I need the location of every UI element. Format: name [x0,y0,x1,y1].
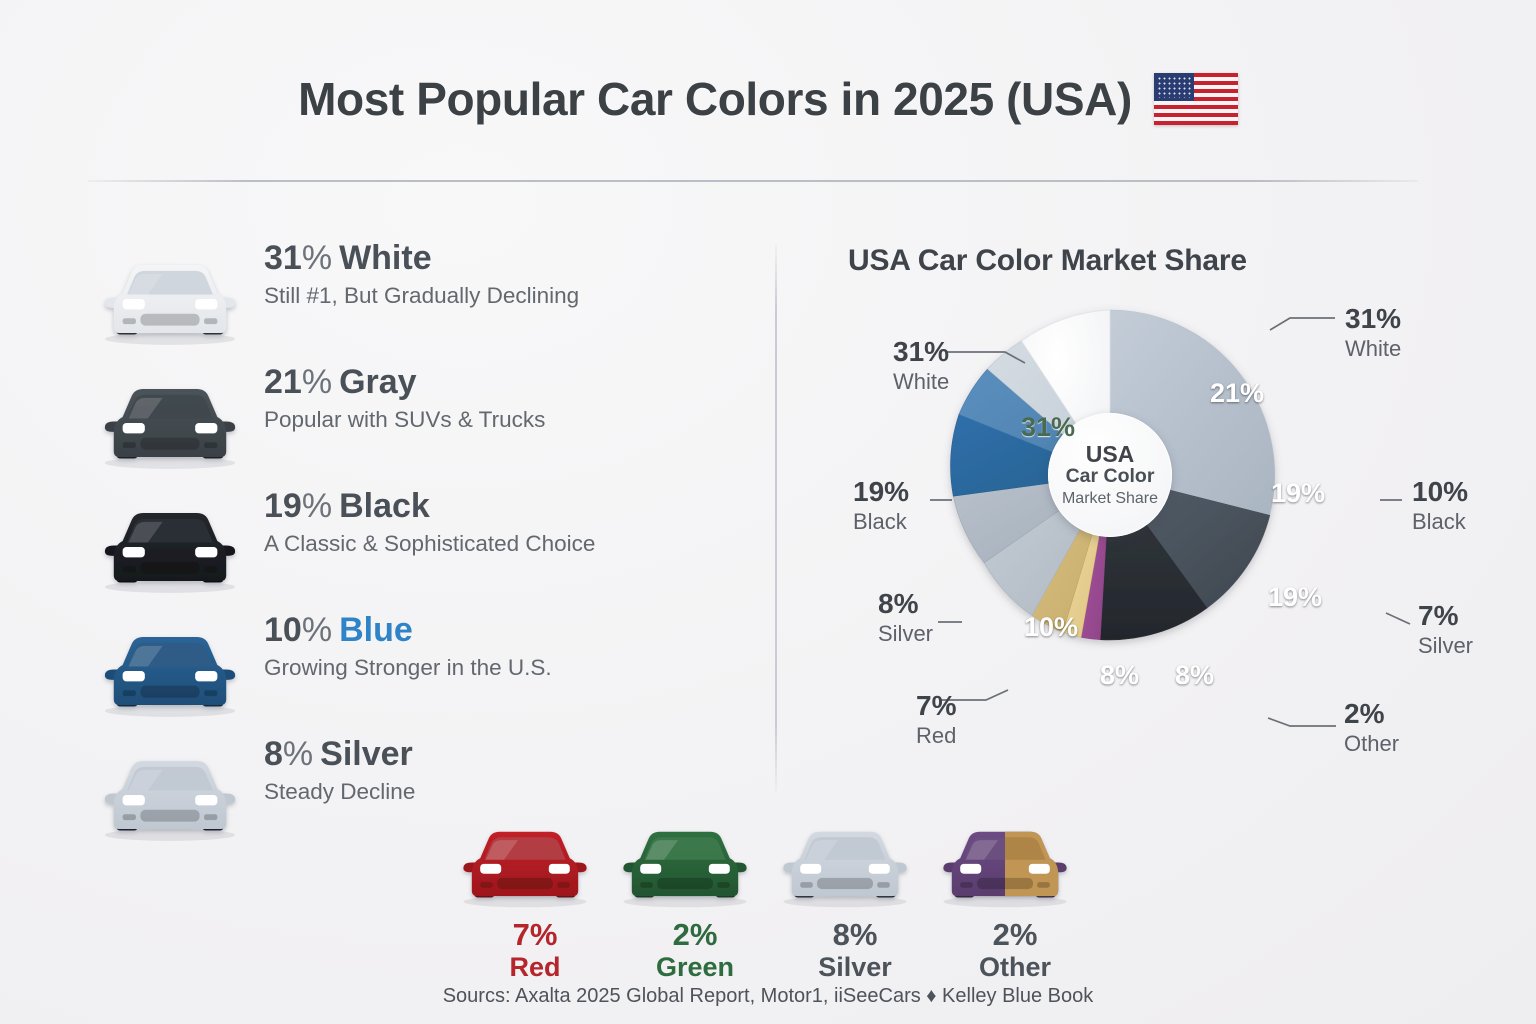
ranking-subtitle: Popular with SUVs & Trucks [264,407,545,433]
callout-pct: 7% [916,692,956,720]
ranking-car-icon [96,486,256,599]
ranking-pct-sign: % [283,735,313,773]
callout-name: Red [916,723,956,749]
ranking-heading: 31%White [264,240,579,277]
ranking-row: 21%Gray Popular with SUVs & Trucks [96,362,756,486]
ranking-color-name: Black [339,487,430,525]
car-icon-red [455,812,595,913]
callout-pct: 19% [853,478,909,506]
ranking-subtitle: A Classic & Sophisticated Choice [264,531,595,557]
callout-pct: 7% [1418,602,1473,630]
ranking-heading: 10%Blue [264,612,552,649]
bottom-car-cell: 2% Green [615,812,775,982]
bottom-car-pct: 2% [615,919,775,952]
ranking-text: 19%Black A Classic & Sophisticated Choic… [256,486,595,557]
slice-label-black-2: 19% [1268,582,1322,613]
callout-name: Black [1412,509,1468,535]
column-divider [775,244,777,792]
callout-other-right: 2% Other [1344,700,1399,757]
callout-pct: 10% [1412,478,1468,506]
bottom-car-name: Red [455,953,615,983]
callout-black-right: 10% Black [1412,478,1468,535]
bottom-car-cell: 8% Silver [775,812,935,982]
slice-label-gray: 21% [1210,378,1264,409]
ranking-list: 31%White Still #1, But Gradually Declini… [96,238,756,858]
callout-silver-left: 8% Silver [878,590,933,647]
bottom-car-name: Other [935,953,1095,983]
car-icon-silver [775,812,915,913]
ranking-car-icon [96,238,256,351]
ranking-text: 10%Blue Growing Stronger in the U.S. [256,610,552,681]
ranking-color-name: Silver [320,735,413,773]
ranking-row: 19%Black A Classic & Sophisticated Choic… [96,486,756,610]
ranking-pct-sign: % [302,363,332,401]
car-icon-silver [96,740,244,847]
ranking-pct: 10 [264,611,302,649]
ranking-heading: 19%Black [264,488,595,525]
callout-name: Silver [1418,633,1473,659]
ranking-car-icon [96,610,256,723]
slice-label-silver-1: 8% [1175,660,1214,691]
header-divider [88,180,1418,182]
callout-name: White [893,369,949,395]
donut-center-line3: Market Share [1062,489,1158,508]
callout-name: Silver [878,621,933,647]
ranking-car-icon [96,362,256,475]
ranking-row: 31%White Still #1, But Gradually Declini… [96,238,756,362]
bottom-car-cell: 2% Other [935,812,1095,982]
source-line: Sourcs: Axalta 2025 Global Report, Motor… [0,985,1536,1008]
infographic-canvas: Most Popular Car Colors in 2025 (USA) [0,0,1536,1024]
bottom-car-icon [775,812,935,913]
ranking-pct-sign: % [302,239,332,277]
ranking-pct-sign: % [302,487,332,525]
callout-black-left: 19% Black [853,478,909,535]
ranking-heading: 8%Silver [264,736,415,773]
callout-name: Other [1344,731,1399,757]
ranking-car-icon [96,734,256,847]
ranking-subtitle: Growing Stronger in the U.S. [264,655,552,681]
ranking-text: 8%Silver Steady Decline [256,734,415,805]
slice-label-black-1: 19% [1271,478,1325,509]
ranking-color-name: Gray [339,363,417,401]
callout-silver-right: 7% Silver [1418,602,1473,659]
bottom-car-name: Green [615,953,775,983]
car-icon-other [935,812,1075,913]
bottom-car-icon [935,812,1095,913]
ranking-subtitle: Steady Decline [264,779,415,805]
car-icon-green [615,812,755,913]
donut-center-line2: Car Color [1066,466,1155,488]
callout-red-left: 7% Red [916,692,956,749]
slice-label-white: 31% [1021,412,1075,443]
callout-pct: 2% [1344,700,1399,728]
car-icon-white [96,244,244,351]
bottom-car-icon [615,812,775,913]
slice-label-silver-2: 8% [1100,660,1139,691]
bottom-car-row: 7% Red 2% Green [455,812,1095,982]
usa-flag-icon [1154,73,1238,125]
page-title: Most Popular Car Colors in 2025 (USA) [298,72,1132,126]
callout-name: White [1345,336,1401,362]
header: Most Popular Car Colors in 2025 (USA) [0,72,1536,126]
bottom-car-pct: 7% [455,919,615,952]
bottom-car-pct: 2% [935,919,1095,952]
ranking-text: 31%White Still #1, But Gradually Declini… [256,238,579,309]
bottom-car-icon [455,812,615,913]
car-icon-blue [96,616,244,723]
ranking-pct-sign: % [302,611,332,649]
bottom-car-pct: 8% [775,919,935,952]
callout-name: Black [853,509,909,535]
ranking-pct: 19 [264,487,302,525]
bottom-car-cell: 7% Red [455,812,615,982]
ranking-pct: 8 [264,735,283,773]
car-icon-gray [96,368,244,475]
ranking-color-name: Blue [339,611,413,649]
ranking-text: 21%Gray Popular with SUVs & Trucks [256,362,545,433]
car-icon-black [96,492,244,599]
callout-white-left: 31% White [893,338,949,395]
ranking-row: 10%Blue Growing Stronger in the U.S. [96,610,756,734]
ranking-color-name: White [339,239,432,277]
donut-panel-title: USA Car Color Market Share [848,244,1247,278]
callout-pct: 31% [1345,305,1401,333]
ranking-pct: 21 [264,363,302,401]
donut-center-line1: USA [1086,442,1135,466]
bottom-car-name: Silver [775,953,935,983]
ranking-heading: 21%Gray [264,364,545,401]
ranking-pct: 31 [264,239,302,277]
callout-pct: 31% [893,338,949,366]
slice-label-blue: 10% [1024,612,1078,643]
callout-pct: 8% [878,590,933,618]
callout-white-right: 31% White [1345,305,1401,362]
ranking-subtitle: Still #1, But Gradually Declining [264,283,579,309]
